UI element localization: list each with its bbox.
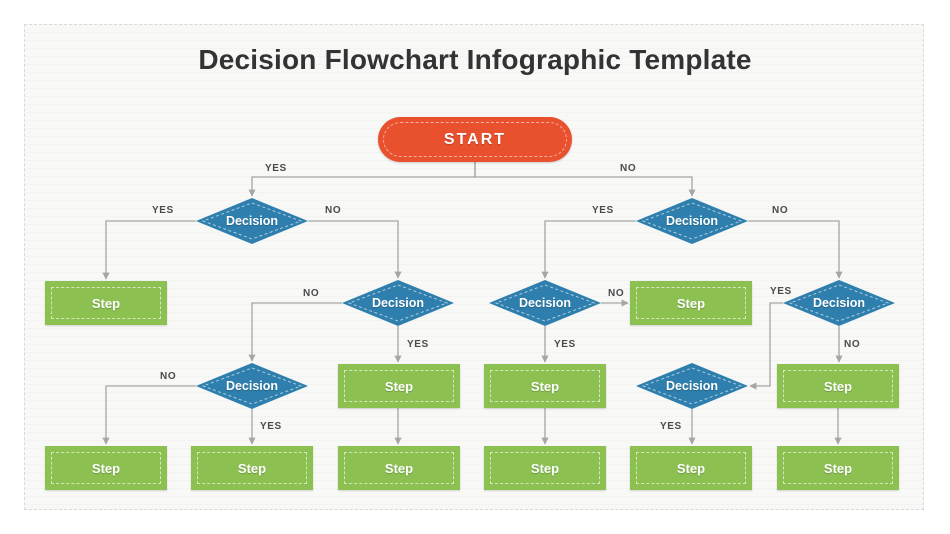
decision-node-d4[interactable]: Decision	[489, 280, 601, 326]
decision-node-label: Decision	[226, 214, 278, 228]
decision-node-label: Decision	[666, 214, 718, 228]
edge-label-yes: YES	[265, 163, 287, 174]
edge-label-yes: YES	[660, 421, 682, 432]
step-node-s9[interactable]: Step	[484, 446, 606, 490]
edge-label-no: NO	[325, 205, 341, 216]
edge-label-no: NO	[608, 288, 624, 299]
decision-node-d2[interactable]: Decision	[636, 198, 748, 244]
step-node-label: Step	[92, 296, 120, 311]
step-node-s3[interactable]: Step	[338, 364, 460, 408]
step-node-label: Step	[824, 461, 852, 476]
step-node-label: Step	[238, 461, 266, 476]
connector-d1-to-d3	[308, 221, 398, 278]
step-node-label: Step	[677, 296, 705, 311]
decision-node-d5[interactable]: Decision	[783, 280, 895, 326]
connector-d3-to-d6	[252, 303, 342, 361]
step-node-label: Step	[531, 461, 559, 476]
decision-node-label: Decision	[813, 296, 865, 310]
connector-d2-to-d4	[545, 221, 636, 278]
step-node-s10[interactable]: Step	[630, 446, 752, 490]
step-node-s2[interactable]: Step	[630, 281, 752, 325]
step-node-label: Step	[92, 461, 120, 476]
edge-label-yes: YES	[770, 286, 792, 297]
step-node-label: Step	[385, 461, 413, 476]
decision-node-label: Decision	[519, 296, 571, 310]
edge-label-yes: YES	[407, 339, 429, 350]
edge-label-yes: YES	[554, 339, 576, 350]
connector-d2-to-d5	[748, 221, 839, 278]
flowchart-slide-canvas: Decision Flowchart Infographic Template …	[0, 0, 950, 534]
connector-d6-to-s6	[106, 386, 196, 444]
step-node-label: Step	[824, 379, 852, 394]
decision-node-d1[interactable]: Decision	[196, 198, 308, 244]
edge-label-no: NO	[844, 339, 860, 350]
connector-start-to-d2	[475, 162, 692, 196]
edge-label-no: NO	[303, 288, 319, 299]
step-node-s7[interactable]: Step	[191, 446, 313, 490]
decision-node-d3[interactable]: Decision	[342, 280, 454, 326]
step-node-s11[interactable]: Step	[777, 446, 899, 490]
start-node-label: START	[444, 131, 506, 149]
step-node-s5[interactable]: Step	[777, 364, 899, 408]
step-node-s4[interactable]: Step	[484, 364, 606, 408]
decision-node-d6[interactable]: Decision	[196, 363, 308, 409]
start-node-start[interactable]: START	[378, 117, 572, 162]
step-node-label: Step	[531, 379, 559, 394]
edge-label-no: NO	[772, 205, 788, 216]
step-node-s1[interactable]: Step	[45, 281, 167, 325]
connector-d1-to-s1	[106, 221, 196, 279]
edge-label-no: NO	[620, 163, 636, 174]
step-node-label: Step	[677, 461, 705, 476]
edge-label-no: NO	[160, 371, 176, 382]
edge-label-yes: YES	[592, 205, 614, 216]
edge-label-yes: YES	[260, 421, 282, 432]
decision-node-label: Decision	[226, 379, 278, 393]
decision-node-label: Decision	[372, 296, 424, 310]
step-node-s8[interactable]: Step	[338, 446, 460, 490]
decision-node-label: Decision	[666, 379, 718, 393]
edge-label-yes: YES	[152, 205, 174, 216]
step-node-label: Step	[385, 379, 413, 394]
decision-node-d7[interactable]: Decision	[636, 363, 748, 409]
step-node-s6[interactable]: Step	[45, 446, 167, 490]
